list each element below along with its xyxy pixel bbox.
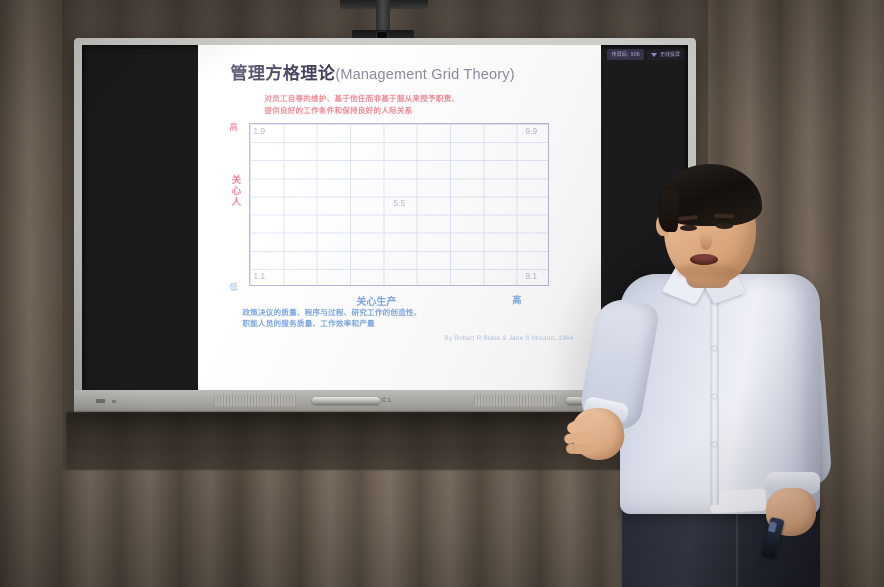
grid-point-9-9: 9.9 <box>525 126 537 136</box>
shirt-placket <box>710 300 719 505</box>
grid-point-1-9: 1.9 <box>253 126 265 136</box>
grid-point-1-1: 1.1 <box>253 271 265 281</box>
bottom-note-line-1: 政策决议的质量、程序与过程、研究工作的创造性、 <box>242 307 591 319</box>
presenter-sideburn <box>658 190 678 232</box>
osd-cast-code: 传屏码: 906 <box>607 49 644 60</box>
x-axis-label: 关心生产 <box>356 293 396 308</box>
top-note-line-2: 提供良好的工作条件和保持良好的人际关系 <box>264 105 591 117</box>
shirt-button <box>712 394 717 399</box>
slide-top-note: 对员工自尊的维护、基于信任而非基于服从来授予职责、 提供良好的工作条件和保持良好… <box>264 93 591 117</box>
meeting-room-photo: 传屏码: 906 无线投屏 管理方格理论(Management Grid The… <box>0 0 884 587</box>
shirt-button <box>712 442 717 447</box>
slide-title-en: (Management Grid Theory) <box>335 67 514 83</box>
speaker-grille-right <box>474 395 556 406</box>
managerial-grid-chart: 高 关心人 低 1.9 9.9 5.5 1.1 9.1 <box>208 123 591 291</box>
ir-sensor-icon <box>96 399 105 403</box>
osd-cast-status[interactable]: 无线投屏 <box>647 49 684 60</box>
y-axis-low-label: 低 <box>229 281 238 293</box>
presenter <box>560 150 884 587</box>
wall-mount-arm <box>376 0 390 34</box>
presenter-eye-left <box>680 225 697 231</box>
shirt-button <box>712 346 717 351</box>
slide-credit: By Robert R Blake & Jane S Mouton, 1964 <box>208 335 573 342</box>
x-axis-group: 关心生产 高 <box>208 293 591 305</box>
screen-osd-overlay: 传屏码: 906 无线投屏 <box>607 49 684 60</box>
presenter-eye-right <box>716 223 733 229</box>
trouser-pleat <box>736 512 738 586</box>
power-led-icon <box>112 400 116 403</box>
presenter-nose <box>700 232 712 250</box>
y-axis-high-label: 高 <box>229 121 238 133</box>
slide-title-cn: 管理方格理论 <box>230 64 335 83</box>
cast-icon <box>651 53 657 57</box>
top-note-line-1: 对员工自尊的维护、基于信任而非基于服从来授予职责、 <box>264 93 591 105</box>
slide-bottom-note: 政策决议的质量、程序与过程、研究工作的创造性、 职能人员的服务质量、工作效率和产… <box>242 307 591 331</box>
bottom-note-line-2: 职能人员的服务质量、工作效率和产量 <box>242 318 591 330</box>
x-axis-high-label: 高 <box>512 293 521 306</box>
presenter-finger <box>566 444 592 455</box>
grid-point-9-1: 9.1 <box>525 271 537 281</box>
slide-title: 管理方格理论(Management Grid Theory) <box>230 59 591 84</box>
speaker-grille-left <box>214 395 296 406</box>
grid-point-5-5: 5.5 <box>393 198 405 208</box>
presenter-chin-shadow <box>676 264 738 278</box>
stylus-pen-left[interactable] <box>312 397 380 404</box>
y-axis-label: 关心人 <box>231 175 241 209</box>
osd-cast-label: 无线投屏 <box>660 51 680 58</box>
presentation-slide: 管理方格理论(Management Grid Theory) 对员工自尊的维护、… <box>198 45 601 397</box>
